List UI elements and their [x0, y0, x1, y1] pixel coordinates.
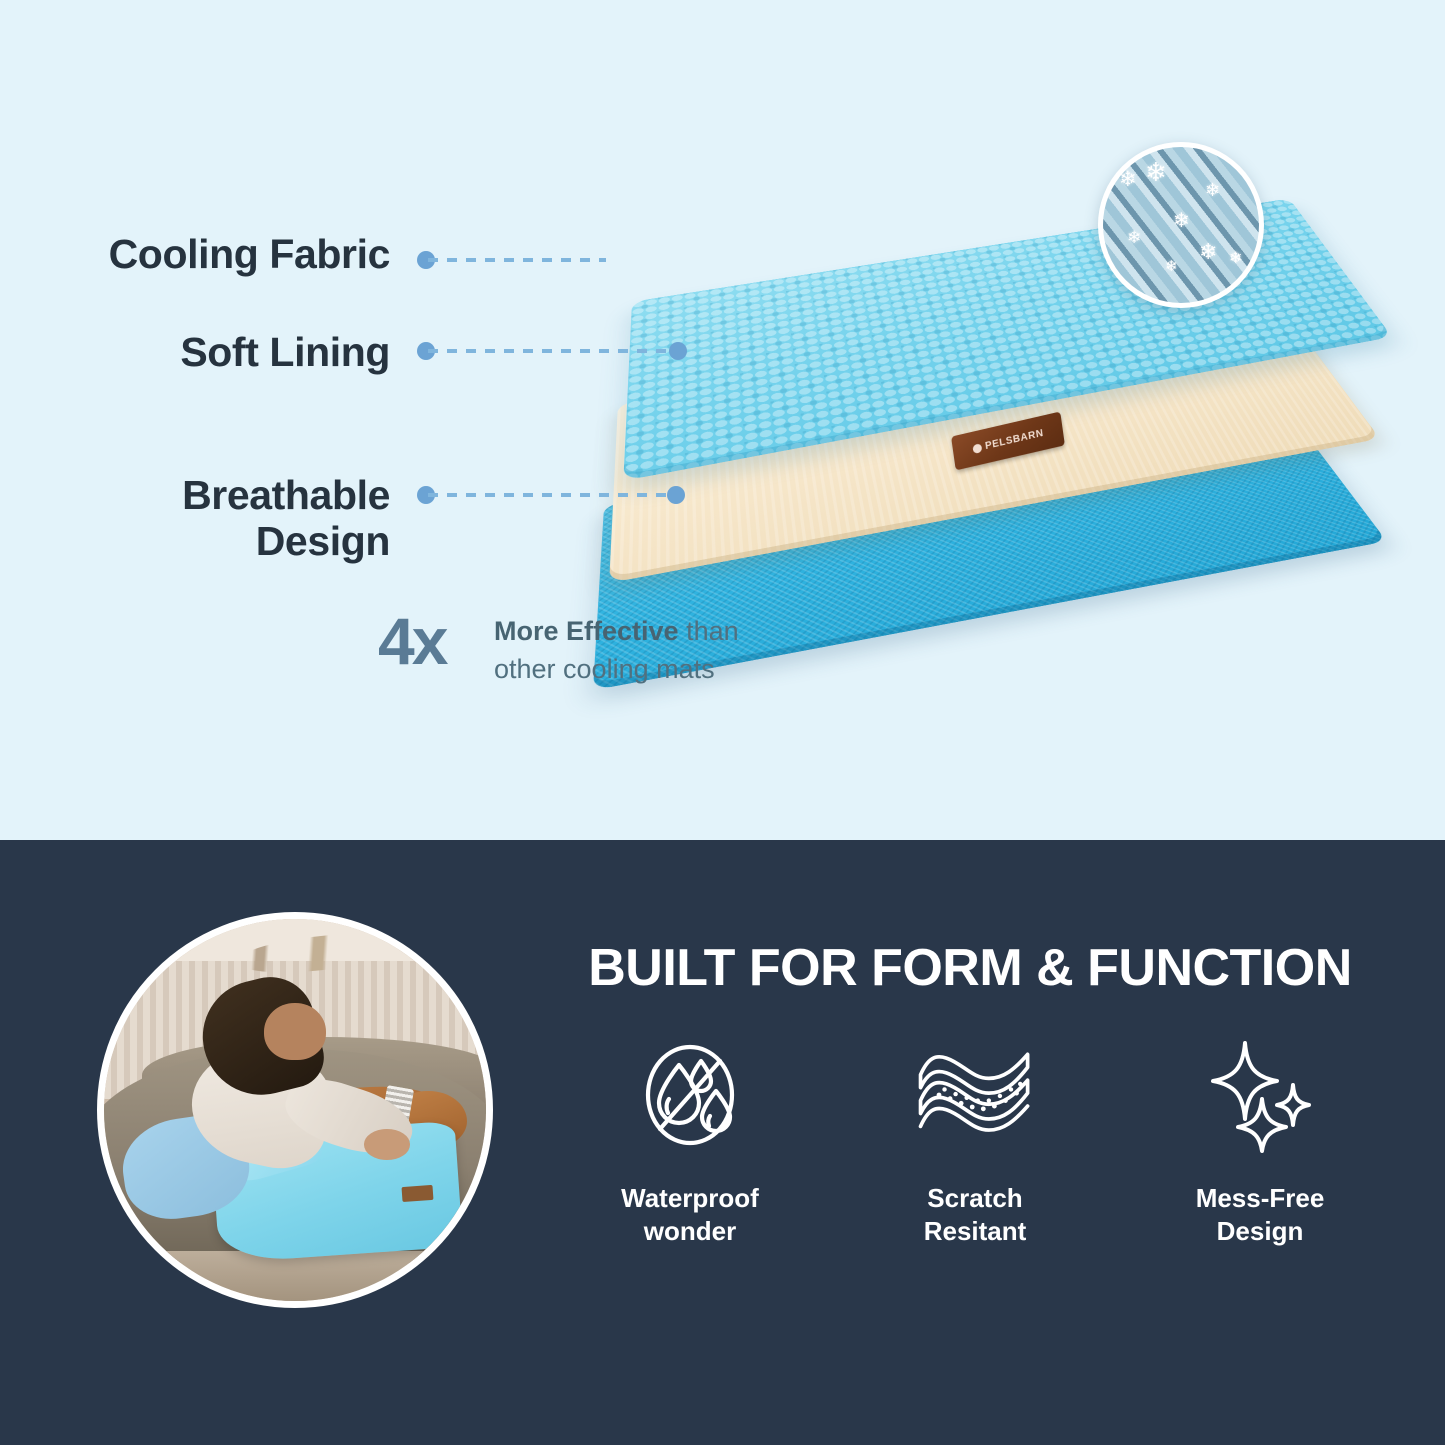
- section-headline: BUILT FOR FORM & FUNCTION: [540, 938, 1400, 998]
- product-layers-section: PELSBARN ❄ ❄ ❄ ❄ ❄ ❄ ❄ ❄ Cooling Fabric …: [0, 0, 1445, 840]
- connector-line-soft-lining: [417, 340, 687, 362]
- lifestyle-photo: [97, 912, 493, 1308]
- no-water-drops-icon: [630, 1030, 750, 1160]
- snowflake-icon: ❄: [1165, 259, 1178, 274]
- snowflake-icon: ❄: [1145, 159, 1167, 185]
- infographic-page: PELSBARN ❄ ❄ ❄ ❄ ❄ ❄ ❄ ❄ Cooling Fabric …: [0, 0, 1445, 1445]
- connector-dot: [667, 486, 685, 504]
- callout-label-cooling-fabric: Cooling Fabric: [40, 232, 390, 278]
- snowflake-icon: ❄: [1229, 251, 1242, 267]
- feature-label: Mess-Free Design: [1196, 1182, 1325, 1249]
- feature-scratch-resistant: Scratch Resitant: [845, 1030, 1105, 1249]
- photo-person-head: [264, 1003, 325, 1060]
- snowflake-icon: ❄: [1119, 169, 1137, 190]
- paw-icon: [972, 443, 982, 454]
- brand-tag-label: PELSBARN: [984, 427, 1044, 451]
- snowflake-icon: ❄: [1199, 241, 1217, 263]
- wavy-fabric-layers-icon: [915, 1030, 1035, 1160]
- callout-label-breathable-design: Breathable Design: [40, 473, 390, 565]
- effectiveness-claim: 4x More Effective than other cooling mat…: [378, 606, 808, 696]
- snowflake-icon: ❄: [1173, 211, 1190, 231]
- sparkles-icon: [1200, 1030, 1320, 1160]
- feature-list: Waterproof wonder: [560, 1030, 1390, 1249]
- feature-mess-free: Mess-Free Design: [1130, 1030, 1390, 1249]
- snowflake-icon: ❄: [1127, 229, 1141, 246]
- fabric-closeup-inset: ❄ ❄ ❄ ❄ ❄ ❄ ❄ ❄: [1098, 142, 1264, 308]
- photo-mat-tag: [401, 1185, 433, 1202]
- connector-dash: [428, 258, 606, 262]
- feature-label: Scratch Resitant: [924, 1182, 1027, 1249]
- connector-dash: [428, 349, 678, 353]
- snowflake-icon: ❄: [1205, 181, 1220, 199]
- photo-person-hand: [364, 1129, 410, 1160]
- connector-line-breathable-design: [417, 484, 685, 506]
- claim-emphasis: More Effective: [494, 616, 679, 646]
- claim-multiplier: 4x: [378, 608, 445, 674]
- claim-text: More Effective than other cooling mats: [494, 612, 814, 689]
- connector-dash: [428, 493, 676, 497]
- feature-label: Waterproof wonder: [621, 1182, 759, 1249]
- photo-floor: [104, 1251, 486, 1301]
- features-section: BUILT FOR FORM & FUNCTION Waterproof won…: [0, 840, 1445, 1445]
- feature-waterproof: Waterproof wonder: [560, 1030, 820, 1249]
- connector-line-cooling-fabric: [417, 249, 612, 271]
- claim-rest: than: [679, 616, 739, 646]
- connector-dot: [669, 342, 687, 360]
- claim-second-line: other cooling mats: [494, 654, 715, 684]
- callout-label-soft-lining: Soft Lining: [40, 330, 390, 376]
